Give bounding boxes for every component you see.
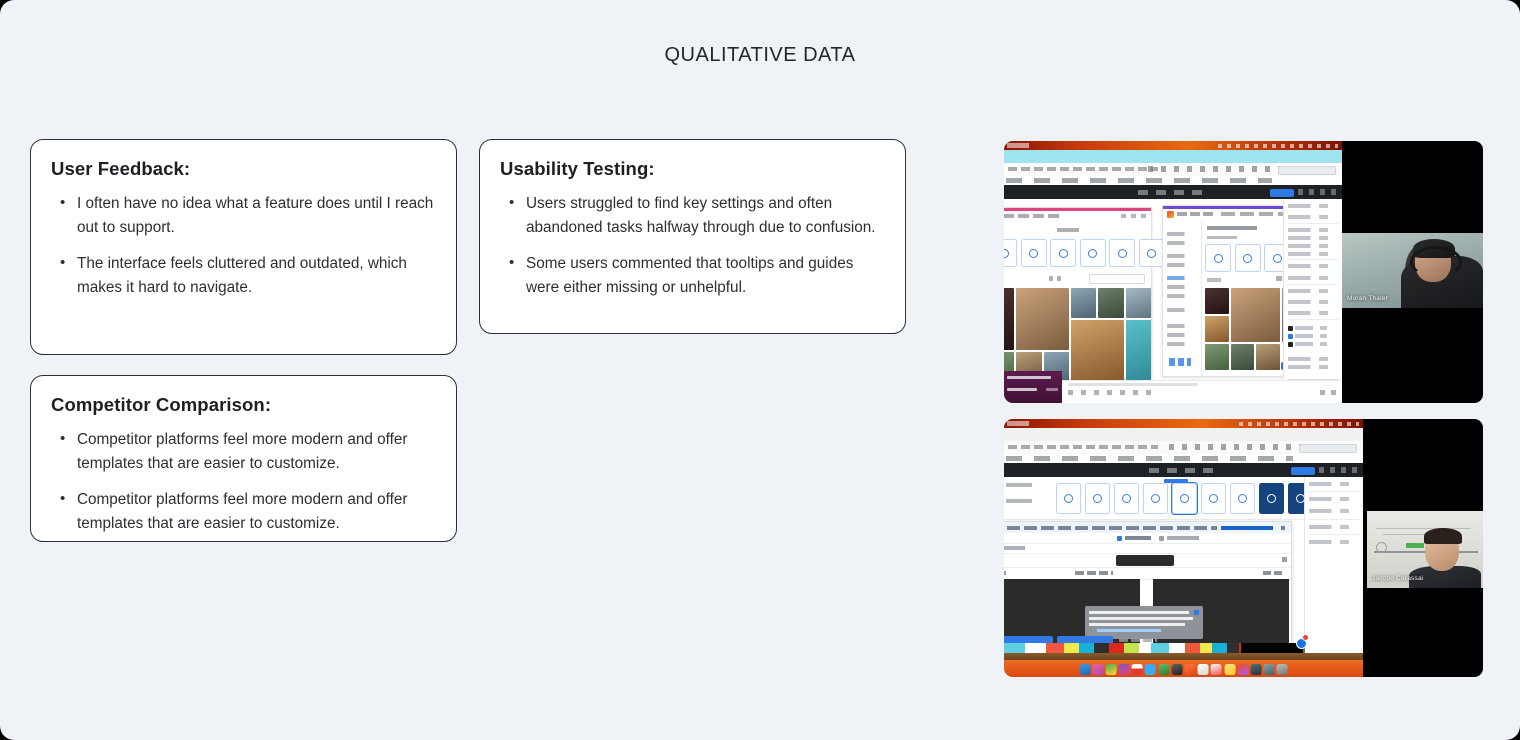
page-corner-mask [1506,726,1520,740]
property-row[interactable] [1309,540,1359,544]
line-numbers-icon [1004,571,1006,575]
widget-tile[interactable] [1230,483,1255,514]
font-tab-right[interactable] [1263,571,1283,575]
panel-heading [1057,228,1079,232]
divider [1287,259,1339,260]
dock-icon-mail[interactable] [1224,664,1235,675]
sidebar-item[interactable] [1167,324,1196,328]
panel-breadcrumb [1004,214,1061,218]
participant-hair [1424,528,1462,544]
swatch[interactable] [1185,643,1200,653]
list-item: The interface feels cluttered and outdat… [75,252,434,300]
sidebar-item[interactable] [1167,308,1196,312]
font-tab-left[interactable] [1075,571,1113,575]
list-item: I often have no idea what a feature does… [75,192,434,240]
notice-text [1007,526,1217,530]
swatch[interactable] [1212,643,1227,653]
dock-icon-figma[interactable] [1237,664,1248,675]
editor-sidebar[interactable] [1163,220,1202,376]
url-text [1008,167,1158,171]
sidebar-item[interactable] [1167,285,1196,289]
property-row[interactable] [1288,264,1338,268]
panel-actions[interactable] [1121,214,1147,218]
widget-tile[interactable] [1085,483,1110,514]
sidebar-item[interactable] [1167,333,1196,337]
swatch[interactable] [1139,643,1151,653]
dock-icon-finder[interactable] [1079,664,1090,675]
property-row[interactable] [1288,204,1338,208]
recording-frame: Jacopo Carassai [1004,419,1483,677]
dock-icon-calendar[interactable] [1132,664,1143,675]
dock-icons[interactable] [1079,664,1288,675]
menubar-app-title [1007,421,1029,426]
swatch[interactable] [1151,643,1169,653]
photo-thumb[interactable] [1126,288,1151,318]
dock-icon-notes[interactable] [1198,664,1209,675]
property-row[interactable] [1309,525,1359,529]
property-row[interactable] [1288,365,1338,369]
widget-tile-active[interactable] [1172,483,1197,514]
toolbar-primary-button[interactable] [1270,189,1294,197]
editor-tooltip [1085,606,1203,639]
bullet-list: Users struggled to find key settings and… [500,192,883,300]
recording-frame: Moran Thaler [1004,141,1483,403]
property-row[interactable] [1295,334,1335,338]
panel-subtitle [1207,236,1237,239]
list-item: Competitor platforms feel more modern an… [75,488,434,536]
picker-label [1006,483,1032,487]
swatch[interactable] [1046,643,1064,653]
tool-rail-badge [1046,388,1058,391]
property-row[interactable] [1309,509,1359,513]
toolbar-center-tools[interactable] [1149,468,1219,473]
card-usability-testing: Usability Testing: Users struggled to fi… [479,139,906,334]
sidebar-item-active[interactable] [1167,276,1196,280]
photo-thumb[interactable] [1004,288,1014,350]
language-toggle[interactable] [1116,555,1174,566]
toolbar-center-tools[interactable] [1138,190,1208,195]
divider [1308,491,1360,492]
participant-tile[interactable]: Jacopo Carassai [1367,511,1483,588]
photo-thumb[interactable] [1016,288,1069,350]
page-canvas [1004,477,1363,677]
whiteboard-line [1376,528,1471,529]
update-available-button[interactable] [1278,166,1336,175]
property-row[interactable] [1288,311,1338,315]
widget-picker-bar [1004,477,1305,520]
desktop-wallpaper [1004,653,1363,660]
expanded-tile-label [1167,536,1199,540]
preview-black-block [1241,643,1303,653]
divider [1287,319,1339,320]
progress-bar[interactable] [1068,383,1198,386]
properties-panel[interactable] [1283,199,1342,403]
property-row[interactable] [1288,236,1338,240]
divider [1308,534,1360,535]
photo-thumb[interactable] [1205,344,1229,370]
list-item: Some users commented that tooltips and g… [524,252,883,300]
participant-name: Moran Thaler [1347,295,1388,302]
tool-rail[interactable] [1004,371,1062,403]
picker-label [1006,499,1032,503]
bullet-list: Competitor platforms feel more modern an… [51,428,434,536]
photo-grid[interactable] [1004,288,1151,382]
swatch[interactable] [1124,643,1139,653]
dock-icon-launchpad[interactable] [1092,664,1103,675]
sticky-note [1406,543,1423,548]
card-title: Usability Testing: [500,158,883,180]
timeline-strip[interactable] [1062,380,1342,403]
widget-tile-selected[interactable] [1259,483,1284,514]
dock-icon-sheets[interactable] [1158,664,1169,675]
sort-dropdown[interactable] [1089,274,1145,284]
widget-tile[interactable] [1235,244,1261,272]
widget-tile[interactable] [1056,483,1081,514]
whiteboard-circle [1376,542,1387,553]
screen-share-region [1004,419,1363,677]
developer-portal-link[interactable] [1221,526,1273,530]
property-row[interactable] [1288,228,1338,232]
app-toolbar[interactable] [1004,463,1363,477]
property-row[interactable] [1288,252,1338,256]
page-corner-mask [0,0,14,14]
dock-icon-trash[interactable] [1277,664,1288,675]
inline-tile-label [1125,536,1151,540]
dock-icon-files[interactable] [1264,664,1275,675]
menubar-status-icons [1218,144,1338,148]
widget-tile[interactable] [1080,239,1106,267]
swatch[interactable] [1227,643,1239,653]
section-label [1207,278,1221,282]
dock-icon-slack[interactable] [1185,664,1196,675]
update-available-button[interactable] [1299,444,1357,453]
widget-tile[interactable] [1114,483,1139,514]
property-row[interactable] [1288,276,1338,280]
property-row[interactable] [1309,482,1359,486]
screen-share-region [1004,141,1342,403]
list-item: Users struggled to find key settings and… [524,192,883,240]
bookmark-items[interactable] [1006,178,1272,183]
swatch[interactable] [1079,643,1094,653]
widget-tile-row[interactable] [1056,483,1313,514]
photo-thumb[interactable] [1256,344,1280,370]
sidebar-footer-link[interactable] [1169,358,1191,366]
menubar-status-icons [1239,422,1359,426]
editor-panel-left [1004,207,1152,379]
browser-tabstrip[interactable] [1004,150,1342,163]
panel-breadcrumb [1177,212,1215,216]
inline-tile-radio[interactable] [1117,536,1122,541]
session-recording-thumbnail-1[interactable]: Moran Thaler [1004,141,1483,403]
property-row[interactable] [1288,215,1338,219]
swatch[interactable] [1025,643,1046,653]
widget-tile[interactable] [1109,239,1135,267]
sidebar-item[interactable] [1167,294,1196,298]
panel-accent-bar [1004,208,1151,211]
timeline-right-controls[interactable] [1320,390,1336,395]
language-switch-row[interactable] [1004,553,1291,567]
panel-page-title [1207,226,1257,230]
swatch[interactable] [1169,643,1184,653]
participant-name: Jacopo Carassai [1372,575,1423,582]
dock-icon-drive[interactable] [1145,664,1156,675]
session-recording-thumbnail-2[interactable]: Jacopo Carassai [1004,419,1483,677]
macos-dock[interactable] [1004,660,1363,677]
expand-icon[interactable] [1282,557,1287,562]
participant-tile[interactable]: Moran Thaler [1342,233,1483,308]
bookmark-items[interactable] [1006,456,1293,461]
swatch[interactable] [1094,643,1109,653]
photo-thumb[interactable] [1205,288,1229,314]
color-swatch[interactable] [1288,326,1293,331]
sidebar-item[interactable] [1167,254,1196,258]
menubar-app-title [1007,143,1029,148]
dock-icon-settings[interactable] [1171,664,1182,675]
page-canvas [1004,199,1342,403]
color-swatch[interactable] [1288,334,1293,339]
widget-tile[interactable] [1139,239,1165,267]
toolbar-primary-button[interactable] [1291,467,1315,475]
toolbar-right-tools[interactable] [1319,467,1359,473]
property-row[interactable] [1309,497,1359,501]
photo-thumb[interactable] [1071,288,1096,318]
property-row[interactable] [1295,326,1335,330]
playback-controls[interactable] [1068,390,1156,395]
tool-rail-item[interactable] [1007,388,1037,391]
tooltip-close-icon[interactable] [1194,610,1199,615]
sidebar-item[interactable] [1167,263,1196,267]
browser-urlbar[interactable] [1004,163,1342,177]
widget-tile[interactable] [1021,239,1047,267]
tooltip-link[interactable] [1097,629,1161,632]
code-editor-panel [1004,521,1292,651]
card-competitor-comparison: Competitor Comparison: Competitor platfo… [30,375,457,542]
page-title: QUALITATIVE DATA [0,44,1520,67]
slide-canvas: QUALITATIVE DATA User Feedback: I often … [0,0,1520,740]
widget-tile[interactable] [1050,239,1076,267]
dock-icon-xcode[interactable] [1211,664,1222,675]
sidebar-item[interactable] [1167,342,1196,346]
dock-icon-photos[interactable] [1119,664,1130,675]
photo-thumb[interactable] [1071,320,1124,382]
sidebar-item[interactable] [1167,241,1196,245]
property-row[interactable] [1288,289,1338,293]
property-row[interactable] [1295,342,1335,346]
swatch[interactable] [1109,643,1124,653]
page-corner-mask [0,726,14,740]
widget-tile[interactable] [1201,483,1226,514]
property-row[interactable] [1288,244,1338,248]
hide-preview-link[interactable] [1119,638,1157,642]
widget-tile[interactable] [1004,239,1017,267]
swatch[interactable] [1200,643,1212,653]
property-row[interactable] [1288,300,1338,304]
widget-tile[interactable] [1205,244,1231,272]
app-logo-icon [1167,211,1174,218]
divider [1287,284,1339,285]
close-icon[interactable] [1281,526,1285,530]
swatch[interactable] [1064,643,1079,653]
notification-badge [1302,634,1309,641]
photo-thumb[interactable] [1098,288,1123,318]
browser-tabstrip[interactable] [1004,428,1363,441]
swatch[interactable] [1004,643,1025,653]
page-corner-mask [1506,0,1520,14]
participant-video-column: Moran Thaler [1342,141,1483,403]
browser-urlbar[interactable] [1004,441,1363,455]
bullet-list: I often have no idea what a feature does… [51,192,434,300]
divider [1287,223,1339,224]
card-user-feedback: User Feedback: I often have no idea what… [30,139,457,355]
property-row[interactable] [1288,357,1338,361]
photo-thumb[interactable] [1205,316,1229,342]
widget-tile[interactable] [1143,483,1168,514]
app-toolbar[interactable] [1004,185,1342,199]
macos-menubar [1004,141,1342,150]
headphones-icon [1410,246,1462,278]
dock-icon-display[interactable] [1251,664,1262,675]
active-tile-badge [1164,479,1188,483]
photo-thumb[interactable] [1231,288,1280,342]
expanded-tile-radio[interactable] [1159,536,1164,541]
list-item: Competitor platforms feel more modern an… [75,428,434,476]
view-toggle-group[interactable] [1049,276,1065,281]
participant-video-column: Jacopo Carassai [1363,419,1483,677]
properties-panel[interactable] [1304,477,1363,677]
sidebar-item[interactable] [1167,232,1196,236]
card-title: User Feedback: [51,158,434,180]
photo-thumb[interactable] [1231,344,1255,370]
dock-icon-chrome[interactable] [1105,664,1116,675]
url-text [1008,445,1158,449]
color-swatch[interactable] [1288,342,1293,347]
tool-rail-item[interactable] [1007,376,1051,379]
card-title: Competitor Comparison: [51,394,434,416]
toolbar-right-tools[interactable] [1298,189,1338,195]
macos-menubar [1004,419,1363,428]
divider [1308,519,1360,520]
photo-thumb[interactable] [1126,320,1151,382]
